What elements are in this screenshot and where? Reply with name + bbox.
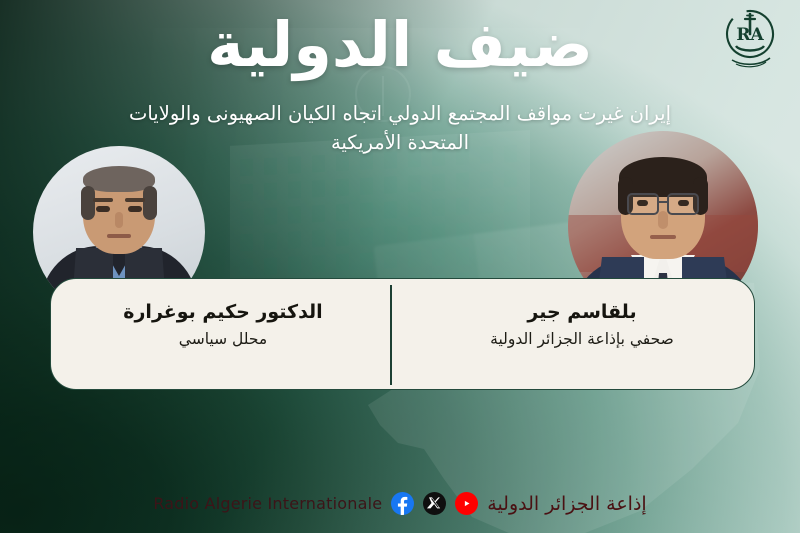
svg-text:RA: RA xyxy=(736,25,764,45)
background-building-window xyxy=(360,227,373,245)
background-building-window xyxy=(288,181,301,199)
youtube-icon[interactable] xyxy=(455,492,478,515)
background-building-window xyxy=(384,176,397,194)
guests-name-card: الدكتور حكيم بوغرارة محلل سياسي بلقاسم ج… xyxy=(50,278,755,390)
photo-eyebrow-left xyxy=(93,198,113,202)
background-building-window xyxy=(408,200,421,218)
background-building-window xyxy=(264,182,277,200)
background-building-window xyxy=(360,177,373,195)
photo-nose xyxy=(115,212,123,228)
background-building-window xyxy=(312,180,325,198)
radio-algerienne-logo-icon: RA xyxy=(714,4,786,74)
background-building-window xyxy=(264,207,277,225)
background-building-window xyxy=(384,226,397,244)
guest-name-left: الدكتور حكيم بوغرارة xyxy=(73,301,373,325)
background-building-window xyxy=(288,231,301,249)
background-building-window xyxy=(360,252,373,270)
photo-hair-side-left xyxy=(81,186,95,220)
photo-eye-right xyxy=(128,206,142,212)
background-building-window xyxy=(312,205,325,223)
background-building-window xyxy=(264,232,277,250)
photo-eye-left xyxy=(96,206,110,212)
background-building-window xyxy=(240,184,253,202)
photo-mouth xyxy=(650,235,676,239)
background-building-window xyxy=(336,229,349,247)
photo-eye-right xyxy=(678,200,689,206)
background-building-window xyxy=(480,196,493,214)
background-building-window xyxy=(264,157,277,175)
background-building-window xyxy=(240,234,253,252)
background-building-window xyxy=(312,230,325,248)
poster-root: ضيف الدولية إيران غيرت مواقف المجتمع الد… xyxy=(0,0,800,533)
background-building-window xyxy=(408,175,421,193)
background-building-window xyxy=(288,206,301,224)
footer-bar: Radio Algerie Internationale إذاعة الجزا… xyxy=(0,492,800,515)
background-building-window xyxy=(480,171,493,189)
background-building-window xyxy=(504,170,517,188)
card-divider xyxy=(390,285,392,385)
photo-eyeglass-bridge xyxy=(659,201,667,203)
background-building-window xyxy=(288,256,301,274)
guest-info-left: الدكتور حكيم بوغرارة محلل سياسي xyxy=(73,301,373,350)
background-building-window xyxy=(432,199,445,217)
background-building-window xyxy=(336,179,349,197)
background-building-window xyxy=(456,197,469,215)
guest-name-right: بلقاسم جير xyxy=(432,301,732,325)
photo-eye-left xyxy=(637,200,648,206)
background-building-window xyxy=(360,202,373,220)
background-building-window xyxy=(504,195,517,213)
background-building-window xyxy=(240,159,253,177)
guest-info-right: بلقاسم جير صحفي بإذاعة الجزائر الدولية xyxy=(432,301,732,350)
background-building-window xyxy=(384,201,397,219)
background-building-window xyxy=(336,254,349,272)
background-building-window xyxy=(432,174,445,192)
guest-role-right: صحفي بإذاعة الجزائر الدولية xyxy=(432,329,732,351)
background-building-window xyxy=(336,204,349,222)
photo-nose xyxy=(658,211,668,229)
photo-mouth xyxy=(107,234,131,238)
guest-role-left: محلل سياسي xyxy=(73,329,373,351)
x-twitter-icon[interactable] xyxy=(423,492,446,515)
facebook-icon[interactable] xyxy=(391,492,414,515)
photo-eyebrow-right xyxy=(125,198,145,202)
background-building-window xyxy=(240,209,253,227)
page-title: ضيف الدولية xyxy=(0,8,800,81)
background-building-window xyxy=(456,172,469,190)
background-building-window xyxy=(288,156,301,174)
photo-hair-side-right xyxy=(143,186,157,220)
footer-arabic-name: إذاعة الجزائر الدولية xyxy=(487,493,646,515)
background-building-window xyxy=(264,257,277,275)
background-building-window xyxy=(240,259,253,277)
background-building-window xyxy=(312,255,325,273)
footer-latin-name: Radio Algerie Internationale xyxy=(153,494,382,513)
